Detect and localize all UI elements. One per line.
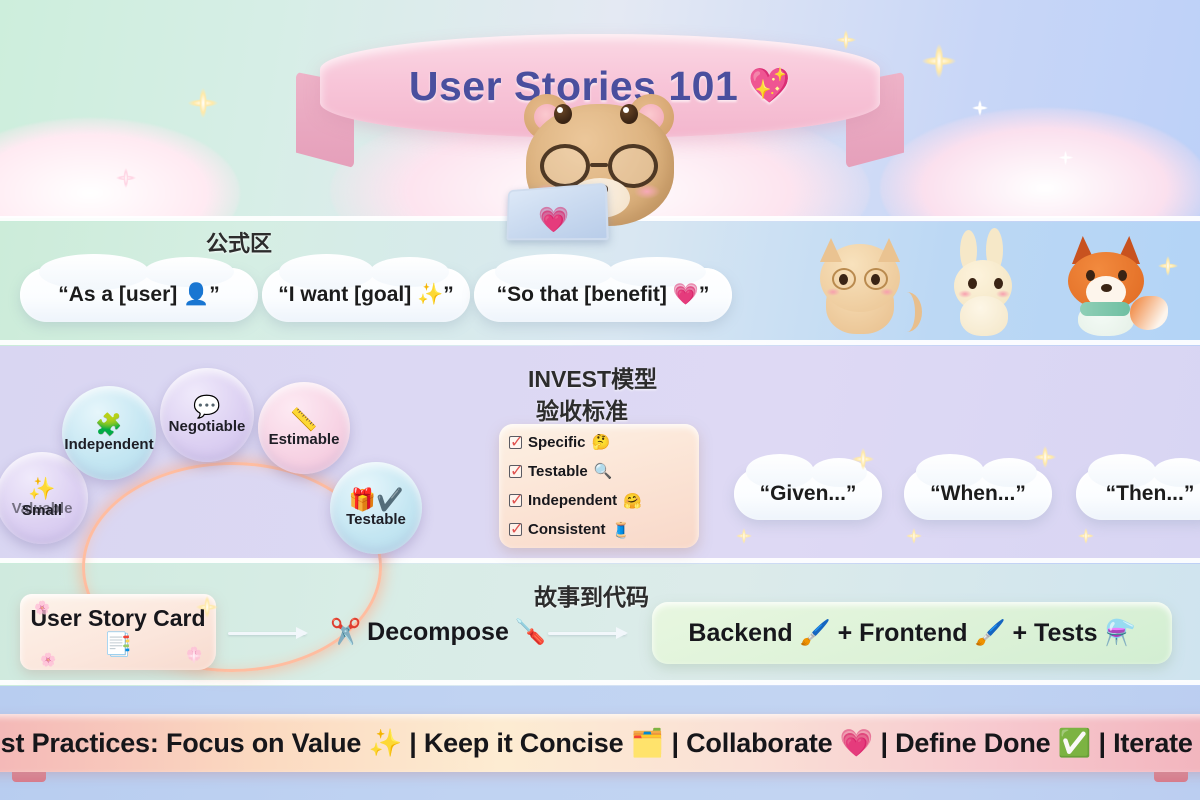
scalpel-icon: 🪛 xyxy=(515,618,546,647)
checklist-item-label: Testable xyxy=(528,463,588,480)
hugging-face-icon: 🤗 xyxy=(623,492,642,510)
flow-output-label: Backend 🖌️ + Frontend 🖌️ + Tests ⚗️ xyxy=(688,619,1135,648)
formula-cloud-as-a-user: “As a [user] 👤” xyxy=(20,268,258,322)
fox-scarf xyxy=(1080,302,1130,316)
invest-badge-negotiable: 💬 Negotiable xyxy=(160,368,254,462)
invest-badge-label: Independent xyxy=(64,437,153,453)
gwt-cloud-when: “When...” xyxy=(904,468,1052,520)
sparkle-icon xyxy=(922,44,956,78)
heart-icon: 💗 xyxy=(538,206,569,235)
sparkle-icon xyxy=(188,88,218,118)
gwt-cloud-then: “Then...” xyxy=(1076,468,1200,520)
invest-model-title: INVEST模型 xyxy=(528,360,657,394)
checklist-item[interactable]: Testable 🔍 xyxy=(509,462,689,480)
invest-badge-testable: 🎁✔️ Testable xyxy=(330,462,422,554)
invest-badge-label: Testable xyxy=(346,512,406,528)
acceptance-criteria-card: Specific 🤔 Testable 🔍 Independent 🤗 Cons… xyxy=(499,424,699,548)
rabbit-body xyxy=(960,296,1008,336)
bear-eye xyxy=(554,104,572,124)
cat-mascot xyxy=(812,238,908,334)
checklist-item-label: Independent xyxy=(528,492,617,509)
sparkles-icon: ✨ xyxy=(28,478,55,500)
magnifier-icon: 🔍 xyxy=(594,462,613,480)
flow-arrow-2 xyxy=(548,632,626,635)
checklist-item[interactable]: Specific 🤔 xyxy=(509,433,689,451)
checklist-item-label: Specific xyxy=(528,434,586,451)
petal-decor-icon: 🌸 xyxy=(186,646,202,662)
glasses-bridge xyxy=(590,163,608,167)
fox-eye xyxy=(1118,270,1127,281)
checklist-item[interactable]: Consistent 🧵 xyxy=(509,521,689,539)
fox-eye xyxy=(1086,270,1095,281)
fox-tail xyxy=(1130,296,1168,330)
gwt-cloud-text: “When...” xyxy=(930,482,1026,506)
gwt-cloud-text: “Then...” xyxy=(1106,482,1195,506)
band-divider xyxy=(0,340,1200,345)
thread-icon: 🧵 xyxy=(612,521,631,539)
checklist-item-label: Consistent xyxy=(528,521,606,538)
formula-cloud-text: “As a [user] 👤” xyxy=(58,283,220,307)
ruler-icon: 📏 xyxy=(290,409,317,431)
invest-badge-label: Estimable xyxy=(269,432,340,448)
checklist-item[interactable]: Independent 🤗 xyxy=(509,492,689,510)
gwt-cloud-text: “Given...” xyxy=(760,482,857,506)
rabbit-blush xyxy=(958,290,972,298)
acceptance-criteria-title: 验收标准 xyxy=(536,392,628,426)
formula-cloud-text: “So that [benefit] 💗” xyxy=(497,283,710,307)
cat-eye xyxy=(871,274,880,285)
invest-badge-label: Negotiable xyxy=(169,419,246,435)
formula-cloud-text: “I want [goal] ✨” xyxy=(278,283,453,307)
checkbox-checked-icon[interactable] xyxy=(509,494,522,507)
petal-decor-icon: 🌸 xyxy=(40,652,56,668)
laptop-icon: 💗 xyxy=(498,186,618,248)
decor-cloud xyxy=(880,108,1200,218)
fox-mascot xyxy=(1060,236,1170,334)
best-practices-text: Best Practices: Focus on Value ✨ | Keep … xyxy=(0,727,1200,759)
formula-section-label: 公式区 xyxy=(206,226,272,258)
invest-badge-label: Valuable xyxy=(12,501,73,517)
rabbit-eye xyxy=(994,278,1003,289)
rabbit-blush xyxy=(996,290,1010,298)
infographic-poster: User Stories 101 💖 💗 公式区 “As a [user] 👤”… xyxy=(0,0,1200,800)
scissors-icon: ✂️ xyxy=(330,618,361,647)
cat-tail xyxy=(892,292,922,332)
rabbit-mascot xyxy=(938,234,1030,334)
checkbox-checked-icon[interactable] xyxy=(509,436,522,449)
checkbox-checked-icon[interactable] xyxy=(509,465,522,478)
heart-icon: 💖 xyxy=(748,66,791,106)
flow-section-label: 故事到代码 xyxy=(534,578,649,612)
gift-check-icon: 🎁✔️ xyxy=(349,489,404,511)
puzzle-piece-icon: 🧩 xyxy=(95,414,122,436)
decor-cloud xyxy=(0,118,240,218)
speech-bubble-heart-icon: 💬 xyxy=(193,396,220,418)
bear-eye xyxy=(620,104,638,124)
thinking-face-icon: 🤔 xyxy=(592,433,611,451)
petal-decor-icon: 🌸 xyxy=(34,600,50,616)
band-divider xyxy=(0,680,1200,685)
cat-eye xyxy=(839,274,848,285)
flow-step-decompose: ✂️ Decompose 🪛 xyxy=(330,618,546,647)
flow-output-pill: Backend 🖌️ + Frontend 🖌️ + Tests ⚗️ xyxy=(652,602,1172,664)
flow-arrow-1 xyxy=(228,632,306,635)
invest-badge-independent: 🧩 Independent xyxy=(62,386,156,480)
gwt-cloud-given: “Given...” xyxy=(734,468,882,520)
formula-cloud-so-that-benefit: “So that [benefit] 💗” xyxy=(474,268,732,322)
formula-cloud-i-want-goal: “I want [goal] ✨” xyxy=(262,268,470,322)
checkbox-checked-icon[interactable] xyxy=(509,523,522,536)
best-practices-banner: Best Practices: Focus on Value ✨ | Keep … xyxy=(0,714,1200,772)
flow-step-label: Decompose xyxy=(367,618,509,647)
invest-badge-estimable: 📏 Estimable xyxy=(258,382,350,474)
fox-nose xyxy=(1101,284,1112,292)
cat-blush xyxy=(826,288,840,296)
rabbit-eye xyxy=(968,278,977,289)
